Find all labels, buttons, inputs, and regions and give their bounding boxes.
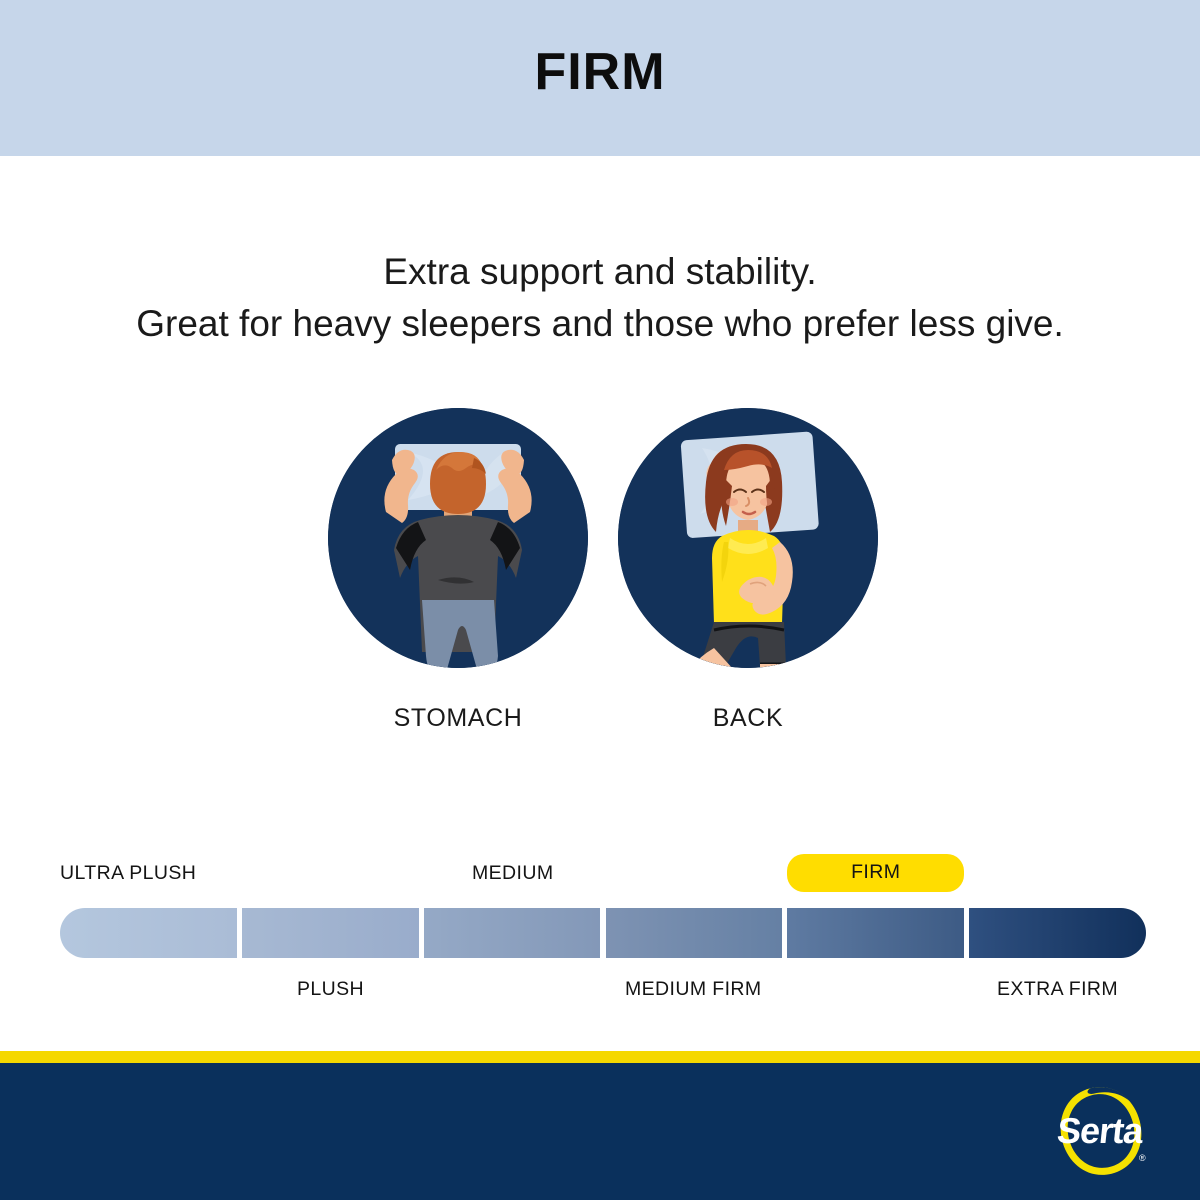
serta-logo[interactable]: Serta ® xyxy=(1047,1081,1155,1181)
sleep-position-label-stomach: STOMACH xyxy=(328,704,588,733)
subtitle-line-2: Great for heavy sleepers and those who p… xyxy=(0,298,1200,350)
segment-fill xyxy=(60,908,237,958)
firmness-segment-plush[interactable] xyxy=(242,908,419,958)
back-sleeper-icon xyxy=(618,408,878,668)
sleep-position-back: BACK xyxy=(618,408,878,733)
segment-fill xyxy=(969,908,1146,958)
page-title: FIRM xyxy=(534,46,665,98)
footer-accent-stripe xyxy=(0,1051,1200,1063)
sleep-position-label-back: BACK xyxy=(618,704,878,733)
registered-trademark-mark: ® xyxy=(1139,1153,1146,1163)
page-header: FIRM xyxy=(0,0,1200,156)
sleep-positions-row: STOMACH xyxy=(0,408,1200,758)
firmness-segment-extra-firm[interactable] xyxy=(969,908,1146,958)
segment-fill xyxy=(242,908,419,958)
back-sleeper-illustration xyxy=(618,408,878,668)
segment-fill xyxy=(787,908,964,958)
segment-fill xyxy=(424,908,601,958)
firmness-scale-bar xyxy=(60,908,1146,958)
firmness-label-selected-firm[interactable]: FIRM xyxy=(787,854,964,892)
firmness-segment-ultra-plush[interactable] xyxy=(60,908,237,958)
firmness-label-medium: MEDIUM xyxy=(472,862,553,885)
firmness-label-extra-firm: EXTRA FIRM xyxy=(997,978,1118,1001)
segment-fill xyxy=(606,908,783,958)
firmness-segment-medium-firm[interactable] xyxy=(606,908,783,958)
subtitle-block: Extra support and stability. Great for h… xyxy=(0,246,1200,350)
serta-logo-mark: Serta ® xyxy=(1047,1081,1155,1181)
stomach-sleeper-icon xyxy=(328,408,588,668)
page-footer: Serta ® xyxy=(0,1063,1200,1200)
subtitle-line-1: Extra support and stability. xyxy=(0,246,1200,298)
sleep-position-stomach: STOMACH xyxy=(328,408,588,733)
firmness-scale: ULTRA PLUSHPLUSHMEDIUMMEDIUM FIRMFIRMEXT… xyxy=(60,862,1146,1012)
firmness-label-plush: PLUSH xyxy=(297,978,364,1001)
stomach-sleeper-illustration xyxy=(328,408,588,668)
firmness-segment-firm[interactable] xyxy=(787,908,964,958)
firmness-label-medium-firm: MEDIUM FIRM xyxy=(625,978,762,1001)
firmness-segment-medium[interactable] xyxy=(424,908,601,958)
firmness-label-ultra-plush: ULTRA PLUSH xyxy=(60,862,196,885)
serta-wordmark: Serta xyxy=(1055,1110,1146,1151)
